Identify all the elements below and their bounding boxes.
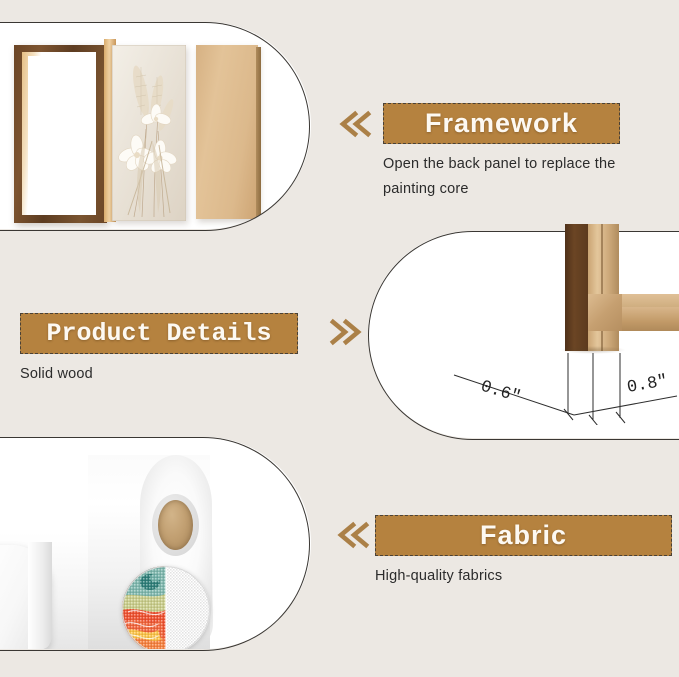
product-detail-infographic: 0.6″ 0.8″ xyxy=(0,0,679,677)
frame-corner-light-face xyxy=(588,224,619,351)
canvas-fold xyxy=(28,542,52,649)
product-details-caption: Solid wood xyxy=(20,362,270,387)
framework-banner: Framework xyxy=(383,103,620,144)
dimension-annotation: 0.6″ 0.8″ xyxy=(452,350,679,430)
fabric-image-panel xyxy=(0,437,311,649)
printed-floral-canvas xyxy=(112,45,186,221)
double-chevron-left-icon xyxy=(338,108,372,140)
kraft-back-panel-edge xyxy=(256,47,261,217)
floral-artwork-icon xyxy=(112,45,186,221)
depth-dimension-label: 0.6″ xyxy=(478,378,523,408)
double-chevron-left-icon xyxy=(336,519,370,551)
frame-corner-dark-edge xyxy=(565,224,588,351)
kraft-back-panel xyxy=(196,45,258,219)
product-details-banner: Product Details xyxy=(20,313,298,354)
frame-blank-canvas xyxy=(28,56,94,211)
fabric-caption: High-quality fabrics xyxy=(375,564,635,589)
double-chevron-right-icon xyxy=(328,316,362,348)
framework-image-panel xyxy=(0,22,311,229)
roll-cardboard-core xyxy=(158,500,193,550)
width-dimension-label: 0.8″ xyxy=(626,372,669,398)
fabric-banner: Fabric xyxy=(375,515,672,556)
fabric-swatch-circle xyxy=(122,566,210,649)
framework-caption: Open the back panel to replace the paint… xyxy=(383,152,633,202)
frame-miter-joint xyxy=(588,294,622,331)
frame-corner-groove xyxy=(601,224,603,351)
